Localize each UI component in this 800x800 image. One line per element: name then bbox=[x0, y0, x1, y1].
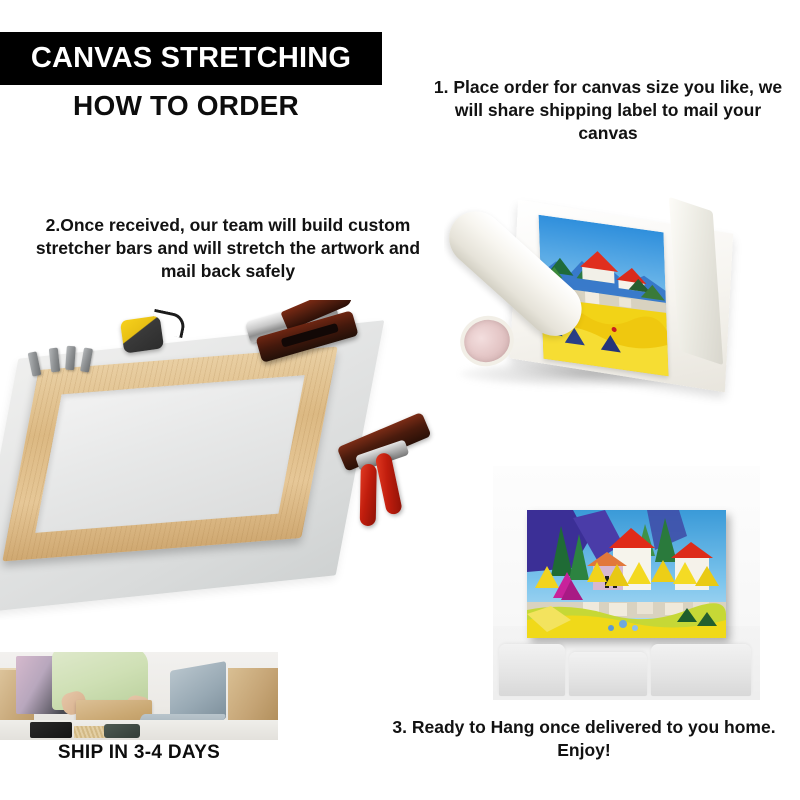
page-subtitle: HOW TO ORDER bbox=[0, 90, 372, 122]
canvas-pliers-icon bbox=[335, 413, 440, 556]
sofa-cushion bbox=[569, 652, 647, 696]
frame-canvas-face bbox=[35, 375, 305, 533]
rolled-canvas-photo bbox=[444, 186, 796, 430]
cardboard-box-stack-right bbox=[228, 668, 278, 728]
smartphone-icon bbox=[104, 724, 140, 738]
infographic-page: CANVAS STRETCHING HOW TO ORDER 1. Place … bbox=[0, 0, 800, 800]
step-3-caption: 3. Ready to Hang once delivered to you h… bbox=[384, 716, 784, 762]
stretcher-key-icon bbox=[65, 346, 76, 371]
pliers-grip-left bbox=[360, 464, 377, 526]
stretcher-keys-group bbox=[30, 346, 96, 376]
pliers-grip-right bbox=[374, 452, 403, 516]
stretcher-key-icon bbox=[28, 351, 42, 376]
calculator-icon bbox=[30, 722, 72, 738]
step-2-caption: 2.Once received, our team will build cus… bbox=[28, 214, 428, 283]
stretcher-key-icon bbox=[80, 347, 93, 372]
sofa bbox=[499, 640, 754, 696]
wooden-stretcher-frame bbox=[2, 346, 337, 561]
sofa-cushion bbox=[651, 644, 751, 696]
roll-open-end bbox=[454, 309, 521, 373]
stretcher-workshop-photo bbox=[0, 300, 440, 620]
ship-time-label: SHIP IN 3-4 DAYS bbox=[0, 742, 278, 764]
step-1-caption: 1. Place order for canvas size you like,… bbox=[432, 76, 784, 145]
landscape-painting-icon bbox=[527, 510, 726, 638]
order-packing-photo bbox=[0, 652, 278, 740]
stretcher-key-icon bbox=[49, 348, 60, 373]
hung-canvas-room-photo bbox=[493, 466, 760, 700]
page-title: CANVAS STRETCHING bbox=[31, 42, 351, 75]
title-banner: CANVAS STRETCHING bbox=[0, 32, 382, 85]
tape-measure-icon bbox=[122, 318, 162, 351]
sofa-cushion bbox=[499, 644, 565, 696]
hung-canvas-artwork bbox=[527, 510, 726, 638]
canvas-roll-tube bbox=[452, 194, 630, 372]
